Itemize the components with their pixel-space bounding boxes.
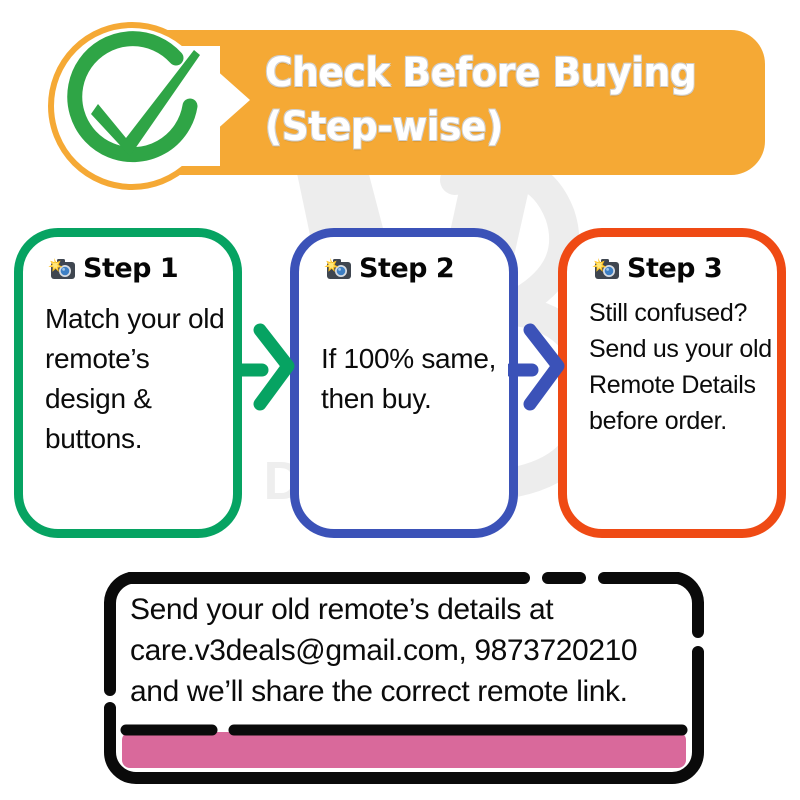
chevron-right-arrow-2-icon (508, 318, 570, 414)
step-2-body: If 100% same, then buy. (321, 339, 507, 419)
step-1-label: Step 1 (83, 253, 178, 284)
page-title-line-1: Check Before Buying (265, 46, 735, 100)
contact-callout: Send your old remote’s details at care.v… (104, 572, 704, 784)
chevron-right-arrow-1-icon (238, 318, 300, 414)
step-3-label: Step 3 (627, 253, 722, 284)
step-3-body: Still confused? Send us your old Remote … (589, 295, 777, 439)
step-2-header: Step 2 (321, 253, 454, 284)
callout-text: Send your old remote’s details at care.v… (130, 589, 690, 712)
camera-with-flash-icon (45, 256, 77, 282)
page-title-line-2: (Step-wise) (265, 100, 735, 154)
step-1-header: Step 1 (45, 253, 178, 284)
step-3-header: Step 3 (589, 253, 722, 284)
camera-with-flash-icon (589, 256, 621, 282)
step-card-1: Step 1 Match your old remote’s design & … (14, 228, 242, 538)
green-check-circle-icon (48, 22, 216, 190)
step-card-3: Step 3 Still confused? Send us your old … (558, 228, 786, 538)
infographic-canvas: DEALS Check Before Buying (Step-wise) (0, 0, 800, 800)
accent-strip (122, 732, 686, 768)
step-1-body: Match your old remote’s design & buttons… (45, 299, 231, 459)
camera-with-flash-icon (321, 256, 353, 282)
step-2-label: Step 2 (359, 253, 454, 284)
step-card-2: Step 2 If 100% same, then buy. (290, 228, 518, 538)
page-title: Check Before Buying (Step-wise) (265, 46, 735, 154)
